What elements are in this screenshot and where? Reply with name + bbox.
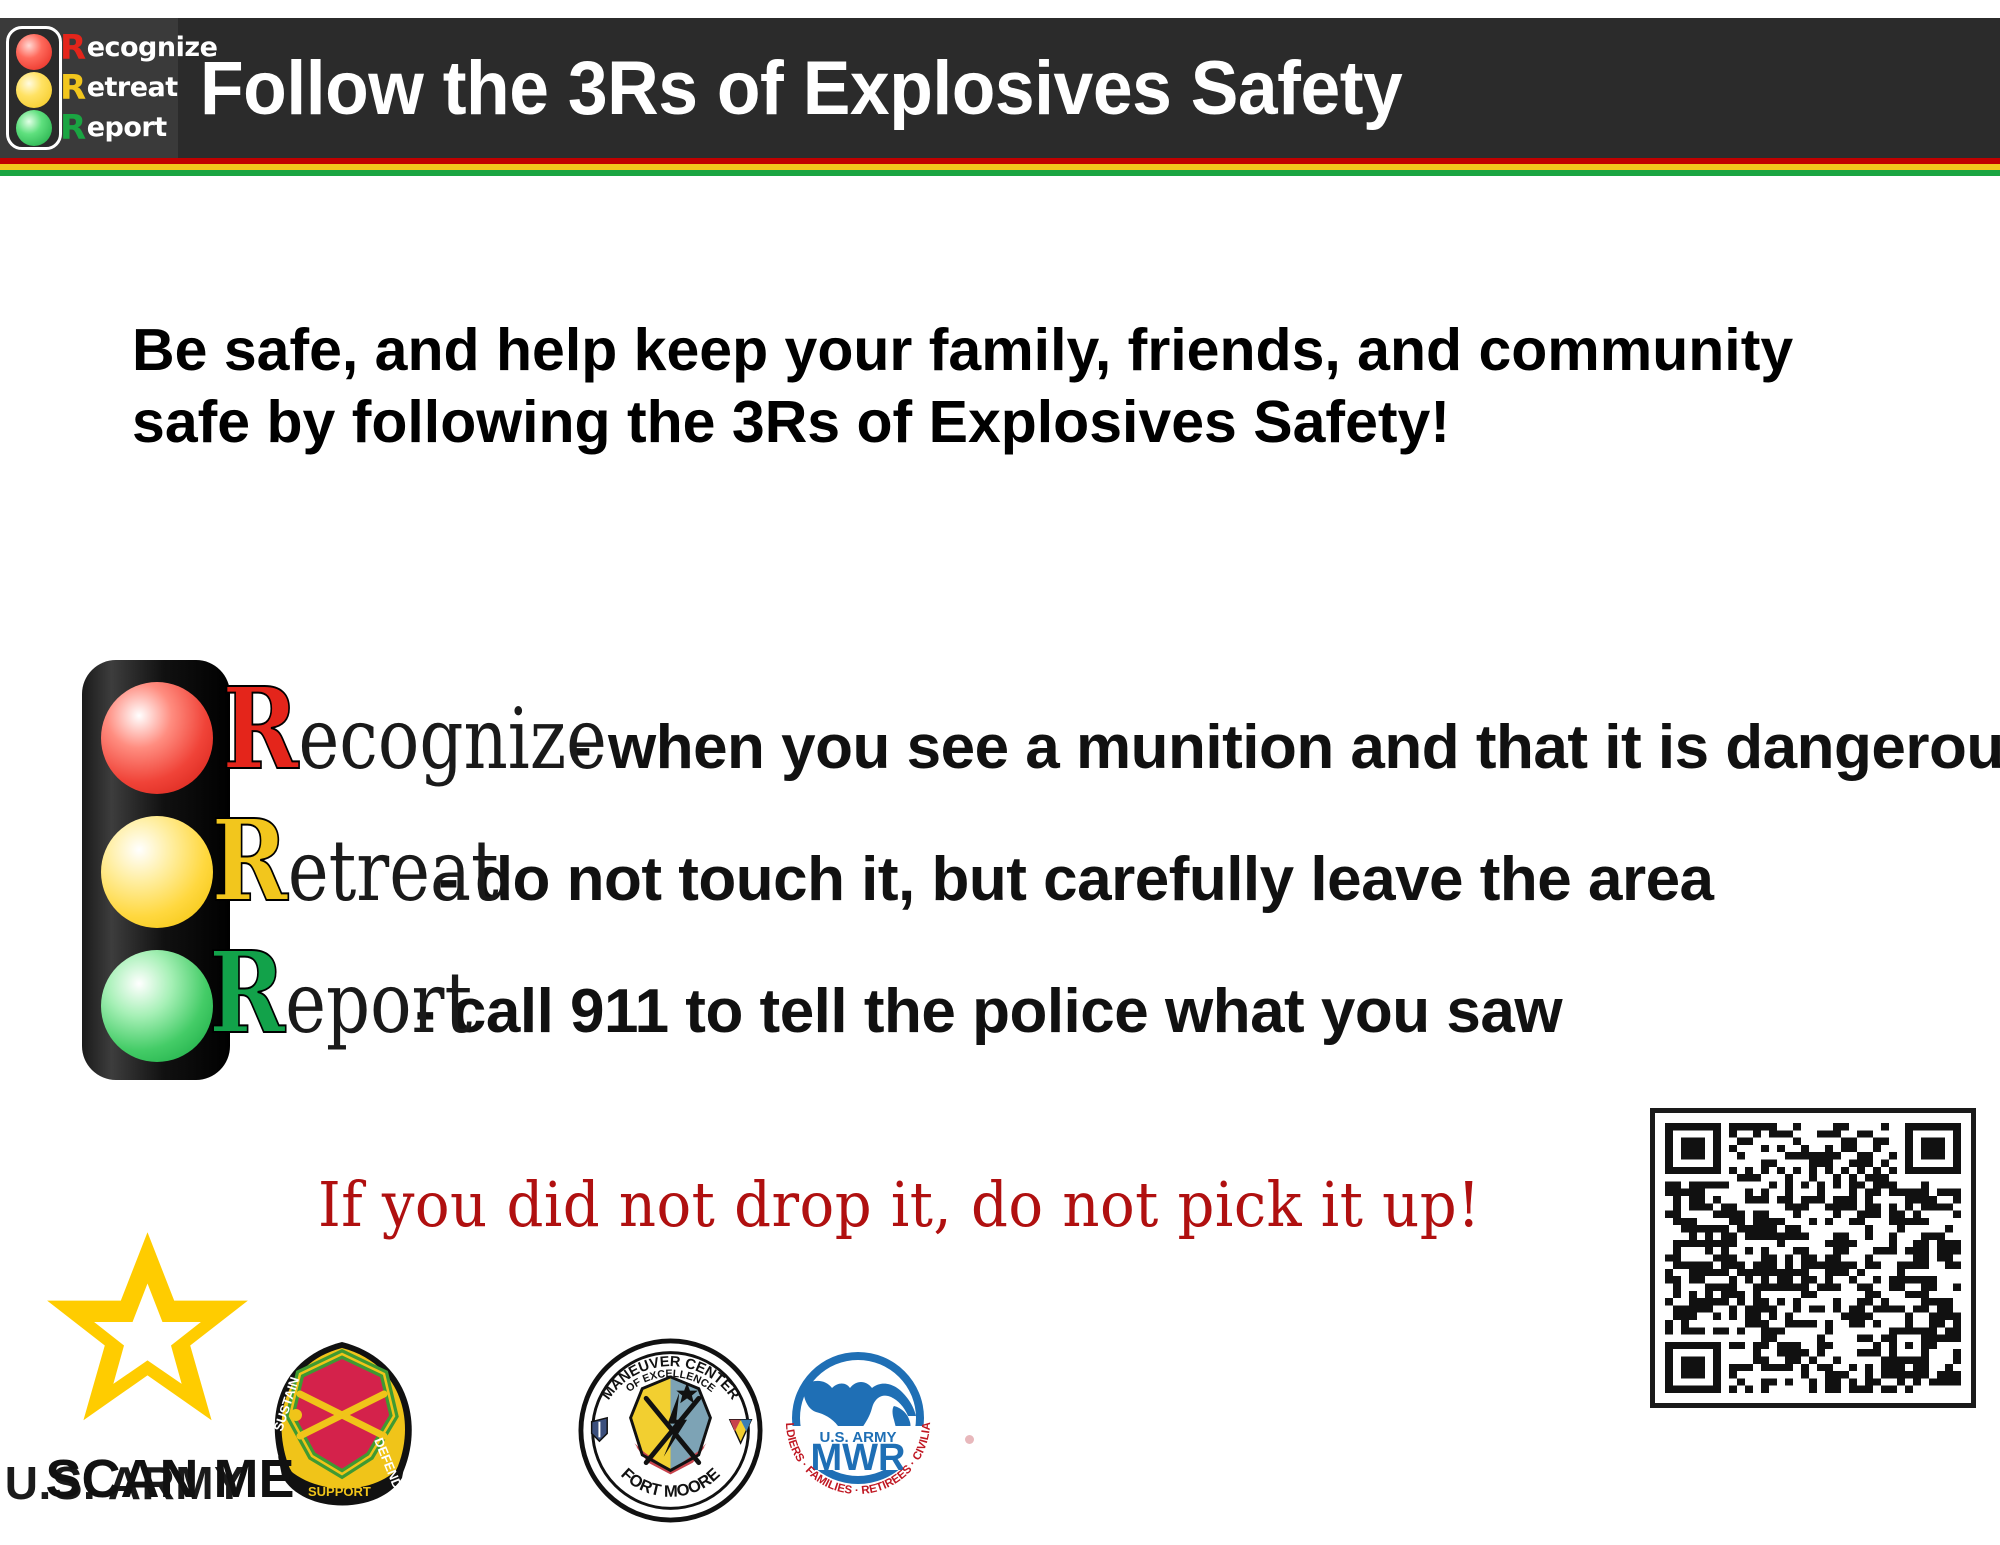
rule-desc-report: - call 911 to tell the police what you s… [415, 976, 1562, 1047]
logo-word-recognize: Recognize [60, 28, 180, 68]
tagline-text: If you did not drop it, do not pick it u… [318, 1168, 1481, 1241]
rule-desc-retreat: - do not touch it, but carefully leave t… [438, 844, 1713, 915]
intro-line-2: safe by following the 3Rs of Explosives … [132, 387, 1922, 459]
traffic-light-red-bulb [101, 682, 213, 794]
logo-word-report: Report [60, 108, 180, 148]
logo-cap-r-green: R [60, 108, 86, 148]
rule-cap-r-red: R [222, 664, 298, 795]
rule-rest-recognize: ecognize [299, 690, 607, 788]
logo-rest-retreat: etreat [87, 68, 178, 108]
header-bar: Recognize Retreat Report Follow the 3Rs … [0, 18, 2000, 158]
yellow-bulb-icon [16, 72, 52, 108]
rule-row-report: Report - call 911 to tell the police wha… [222, 938, 1562, 1050]
logo-word-retreat: Retreat [60, 68, 180, 108]
traffic-light-icon [6, 26, 62, 150]
decorative-dot [965, 1435, 974, 1444]
rule-desc-recognize: - when you see a munition and that it is… [571, 712, 2000, 783]
rule-rest-report: eport [285, 954, 472, 1052]
page-title: Follow the 3Rs of Explosives Safety [200, 45, 1402, 132]
logo-rest-recognize: ecognize [87, 28, 218, 68]
rule-row-retreat: Retreat - do not touch it, but carefully… [222, 806, 1714, 918]
logo-rest-report: eport [87, 108, 167, 148]
rule-cap-r-yellow: R [212, 796, 288, 927]
logo-cap-r-red: R [60, 28, 86, 68]
army-star-icon [40, 1228, 255, 1433]
mwr-seal-logo: U.S. ARMY MWR SOLDIERS · FAMILIES · RETI… [768, 1330, 948, 1510]
3rs-logo-words: Recognize Retreat Report [60, 28, 180, 148]
rule-row-recognize: Recognize - when you see a munition and … [222, 674, 2000, 786]
traffic-light-graphic [82, 660, 230, 1080]
traffic-light-green-bulb [101, 950, 213, 1062]
traffic-light-yellow-bulb [101, 816, 213, 928]
qr-code-frame[interactable] [1650, 1108, 1976, 1408]
rule-word-recognize: Recognize [222, 674, 607, 786]
rule-word-report: Report [209, 938, 472, 1050]
mwr-main-label: MWR [811, 1437, 906, 1479]
logo-cap-r-yellow: R [60, 68, 86, 108]
divider-stripe-green [0, 170, 2000, 176]
red-bulb-icon [16, 34, 52, 70]
rule-word-retreat: Retreat [212, 806, 499, 918]
green-bulb-icon [16, 110, 52, 146]
rule-rest-retreat: etreat [288, 822, 499, 920]
3rs-logo: Recognize Retreat Report [0, 18, 178, 158]
qr-code-image[interactable] [1665, 1123, 1961, 1393]
intro-text: Be safe, and help keep your family, frie… [132, 315, 1922, 459]
mcoe-seal-logo: MANEUVER CENTER OF EXCELLENCE FORT MOORE [578, 1338, 763, 1523]
intro-line-1: Be safe, and help keep your family, frie… [132, 315, 1922, 387]
rule-cap-r-green: R [209, 928, 285, 1059]
qr-code-block[interactable] [1650, 1108, 1990, 1528]
scan-me-label: SCAN ME [0, 1448, 340, 1510]
